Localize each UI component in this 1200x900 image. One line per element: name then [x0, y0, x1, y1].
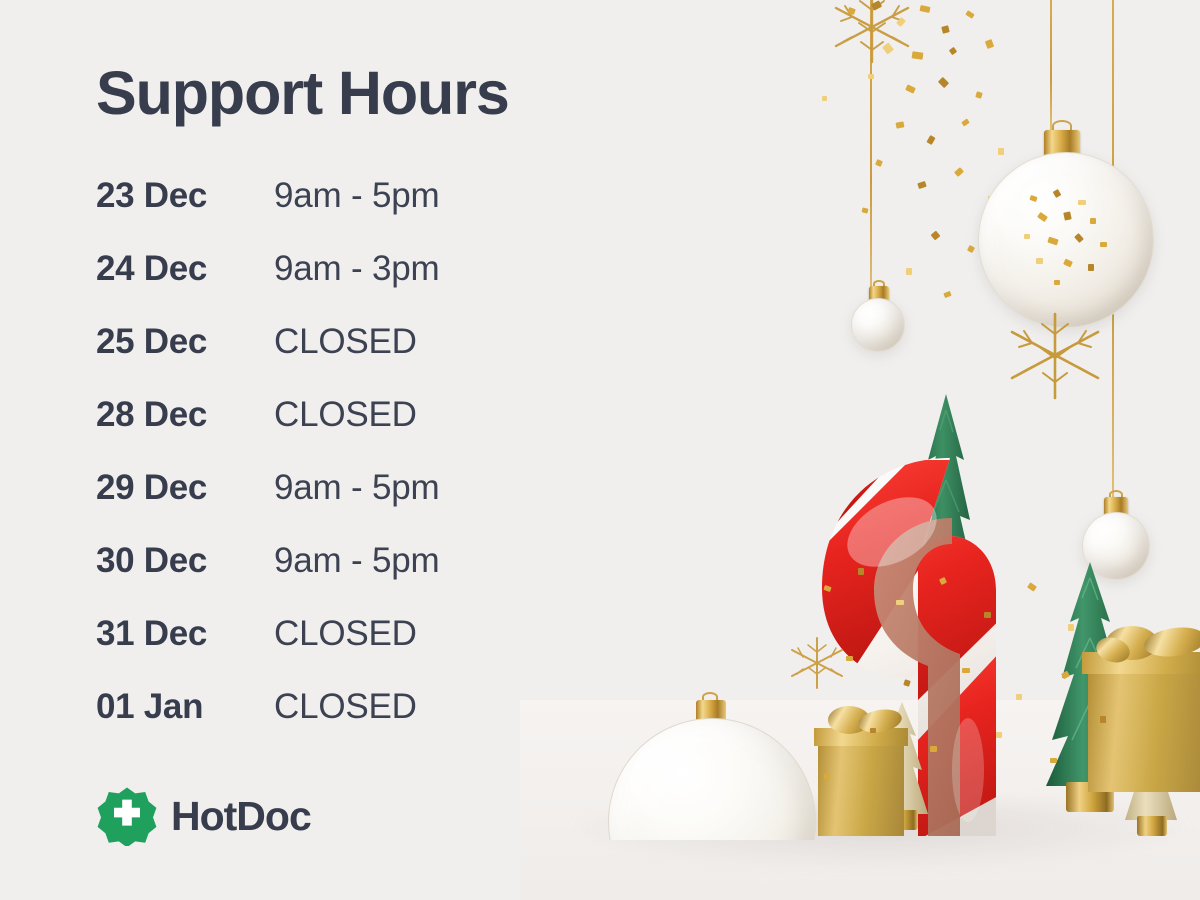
content-panel: Support Hours 23 Dec 9am - 5pm 24 Dec 9a… [0, 0, 600, 900]
hours-row: 23 Dec 9am - 5pm [96, 176, 536, 249]
hours-row: 24 Dec 9am - 3pm [96, 249, 536, 322]
hours-row: 30 Dec 9am - 5pm [96, 541, 536, 614]
hours-time: 9am - 5pm [274, 468, 439, 508]
hotdoc-wordmark: HotDoc [171, 796, 311, 837]
hanging-bauble-small-icon [848, 280, 908, 352]
hours-time: 9am - 3pm [274, 249, 439, 289]
hours-date: 01 Jan [96, 687, 274, 727]
hours-time: 9am - 5pm [274, 541, 439, 581]
hours-row: 01 Jan CLOSED [96, 687, 536, 760]
hours-date: 29 Dec [96, 468, 274, 508]
gold-confetti-icon [800, 560, 1160, 820]
poster-canvas: Support Hours 23 Dec 9am - 5pm 24 Dec 9a… [0, 0, 1200, 900]
hours-row: 28 Dec CLOSED [96, 395, 536, 468]
hours-row: 29 Dec 9am - 5pm [96, 468, 536, 541]
hours-date: 23 Dec [96, 176, 274, 216]
hours-time: CLOSED [274, 687, 417, 727]
holiday-illustration [560, 0, 1200, 900]
support-hours-list: 23 Dec 9am - 5pm 24 Dec 9am - 3pm 25 Dec… [96, 176, 536, 760]
hours-time: CLOSED [274, 614, 417, 654]
hours-row: 31 Dec CLOSED [96, 614, 536, 687]
page-title: Support Hours [96, 63, 509, 124]
snowflake-icon [990, 300, 1120, 410]
hours-time: CLOSED [274, 395, 417, 435]
hours-time: 9am - 5pm [274, 176, 439, 216]
hours-date: 25 Dec [96, 322, 274, 362]
resting-bauble-icon [602, 692, 822, 840]
hours-date: 30 Dec [96, 541, 274, 581]
hours-time: CLOSED [274, 322, 417, 362]
hours-date: 28 Dec [96, 395, 274, 435]
hanging-bauble-large-icon [968, 120, 1158, 330]
hours-date: 31 Dec [96, 614, 274, 654]
hotdoc-logo: HotDoc [97, 786, 311, 846]
hours-date: 24 Dec [96, 249, 274, 289]
hours-row: 25 Dec CLOSED [96, 322, 536, 395]
medical-cross-badge-icon [97, 786, 157, 846]
